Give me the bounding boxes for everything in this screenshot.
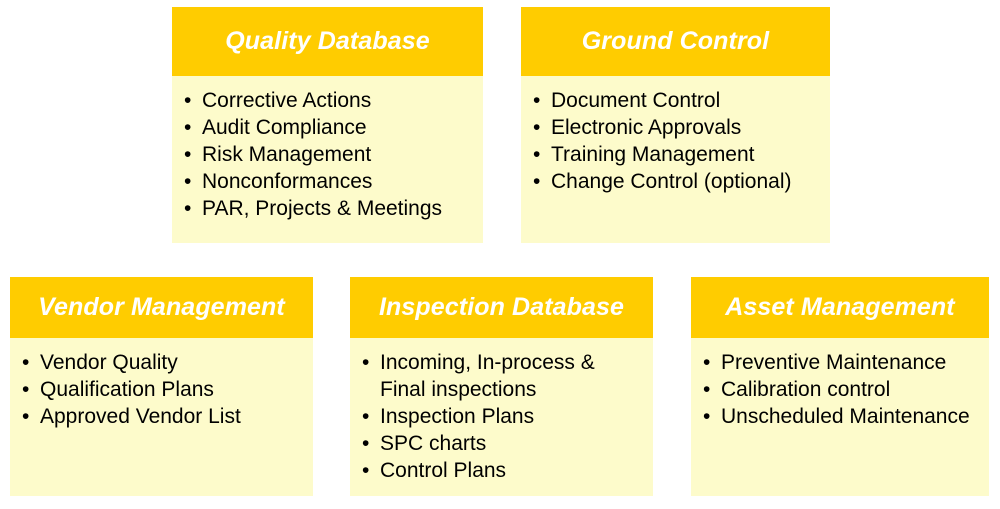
feature-list: •Vendor Quality •Qualification Plans •Ap… — [21, 349, 305, 430]
card-body-inspection-database: •Incoming, In-process & Final inspection… — [350, 338, 653, 496]
list-item-label: SPC charts — [380, 432, 486, 455]
card-inspection-database[interactable]: Inspection Database •Incoming, In-proces… — [350, 277, 653, 496]
card-title: Asset Management — [725, 294, 954, 322]
bullet-icon: • — [533, 87, 540, 114]
bullet-icon: • — [533, 114, 540, 141]
card-header-ground-control: Ground Control — [521, 7, 830, 76]
list-item[interactable]: •Preventive Maintenance — [702, 349, 981, 376]
bullet-icon: • — [22, 376, 29, 403]
list-item-label: Vendor Quality — [40, 351, 178, 374]
list-item[interactable]: •Audit Compliance — [183, 114, 475, 141]
list-item[interactable]: •Nonconformances — [183, 168, 475, 195]
bullet-icon: • — [184, 87, 191, 114]
bullet-icon: • — [184, 141, 191, 168]
list-item-label: Change Control (optional) — [551, 170, 791, 193]
card-body-quality-database: •Corrective Actions •Audit Compliance •R… — [172, 76, 483, 243]
list-item[interactable]: •Approved Vendor List — [21, 403, 305, 430]
card-asset-management[interactable]: Asset Management •Preventive Maintenance… — [691, 277, 989, 496]
list-item-label: Document Control — [551, 89, 720, 112]
card-quality-database[interactable]: Quality Database •Corrective Actions •Au… — [172, 7, 483, 243]
list-item[interactable]: •Change Control (optional) — [532, 168, 822, 195]
list-item[interactable]: •Document Control — [532, 87, 822, 114]
card-ground-control[interactable]: Ground Control •Document Control •Electr… — [521, 7, 830, 243]
list-item[interactable]: •Corrective Actions — [183, 87, 475, 114]
feature-list: •Document Control •Electronic Approvals … — [532, 87, 822, 195]
bullet-icon: • — [703, 376, 710, 403]
list-item-label: Approved Vendor List — [40, 405, 241, 428]
bullet-icon: • — [362, 349, 369, 376]
bullet-icon: • — [362, 403, 369, 430]
bullet-icon: • — [22, 403, 29, 430]
list-item-label: Preventive Maintenance — [721, 351, 946, 374]
list-item[interactable]: •SPC charts — [361, 430, 645, 457]
feature-list: •Corrective Actions •Audit Compliance •R… — [183, 87, 475, 222]
card-vendor-management[interactable]: Vendor Management •Vendor Quality •Quali… — [10, 277, 313, 496]
bullet-icon: • — [533, 141, 540, 168]
list-item-label: Control Plans — [380, 459, 506, 482]
bullet-icon: • — [362, 430, 369, 457]
card-header-quality-database: Quality Database — [172, 7, 483, 76]
list-item-label: Inspection Plans — [380, 405, 534, 428]
list-item-label: Incoming, In-process & Final inspections — [380, 351, 595, 401]
list-item-label: Corrective Actions — [202, 89, 371, 112]
list-item-label: PAR, Projects & Meetings — [202, 197, 442, 220]
feature-list: •Incoming, In-process & Final inspection… — [361, 349, 645, 484]
bullet-icon: • — [184, 168, 191, 195]
bullet-icon: • — [533, 168, 540, 195]
bullet-icon: • — [22, 349, 29, 376]
list-item[interactable]: •Vendor Quality — [21, 349, 305, 376]
list-item[interactable]: •PAR, Projects & Meetings — [183, 195, 475, 222]
card-body-ground-control: •Document Control •Electronic Approvals … — [521, 76, 830, 243]
bullet-icon: • — [362, 457, 369, 484]
card-body-asset-management: •Preventive Maintenance •Calibration con… — [691, 338, 989, 496]
list-item-label: Electronic Approvals — [551, 116, 741, 139]
list-item-label: Nonconformances — [202, 170, 372, 193]
bullet-icon: • — [703, 403, 710, 430]
list-item-label: Unscheduled Maintenance — [721, 405, 970, 428]
list-item-label: Training Management — [551, 143, 755, 166]
card-title: Vendor Management — [38, 294, 285, 322]
list-item[interactable]: •Control Plans — [361, 457, 645, 484]
bullet-icon: • — [184, 114, 191, 141]
module-overview-diagram: Quality Database •Corrective Actions •Au… — [0, 0, 1000, 509]
list-item[interactable]: •Incoming, In-process & Final inspection… — [361, 349, 645, 403]
bullet-icon: • — [703, 349, 710, 376]
card-title: Inspection Database — [379, 294, 624, 322]
card-header-vendor-management: Vendor Management — [10, 277, 313, 338]
list-item[interactable]: •Unscheduled Maintenance — [702, 403, 981, 430]
list-item-label: Audit Compliance — [202, 116, 367, 139]
list-item[interactable]: •Calibration control — [702, 376, 981, 403]
card-title: Quality Database — [225, 28, 429, 56]
card-header-inspection-database: Inspection Database — [350, 277, 653, 338]
list-item[interactable]: •Qualification Plans — [21, 376, 305, 403]
list-item[interactable]: •Training Management — [532, 141, 822, 168]
list-item-label: Qualification Plans — [40, 378, 214, 401]
card-header-asset-management: Asset Management — [691, 277, 989, 338]
feature-list: •Preventive Maintenance •Calibration con… — [702, 349, 981, 430]
list-item[interactable]: •Inspection Plans — [361, 403, 645, 430]
list-item-label: Calibration control — [721, 378, 890, 401]
list-item[interactable]: •Electronic Approvals — [532, 114, 822, 141]
bullet-icon: • — [184, 195, 191, 222]
list-item[interactable]: •Risk Management — [183, 141, 475, 168]
card-title: Ground Control — [582, 28, 769, 56]
list-item-label: Risk Management — [202, 143, 371, 166]
card-body-vendor-management: •Vendor Quality •Qualification Plans •Ap… — [10, 338, 313, 496]
